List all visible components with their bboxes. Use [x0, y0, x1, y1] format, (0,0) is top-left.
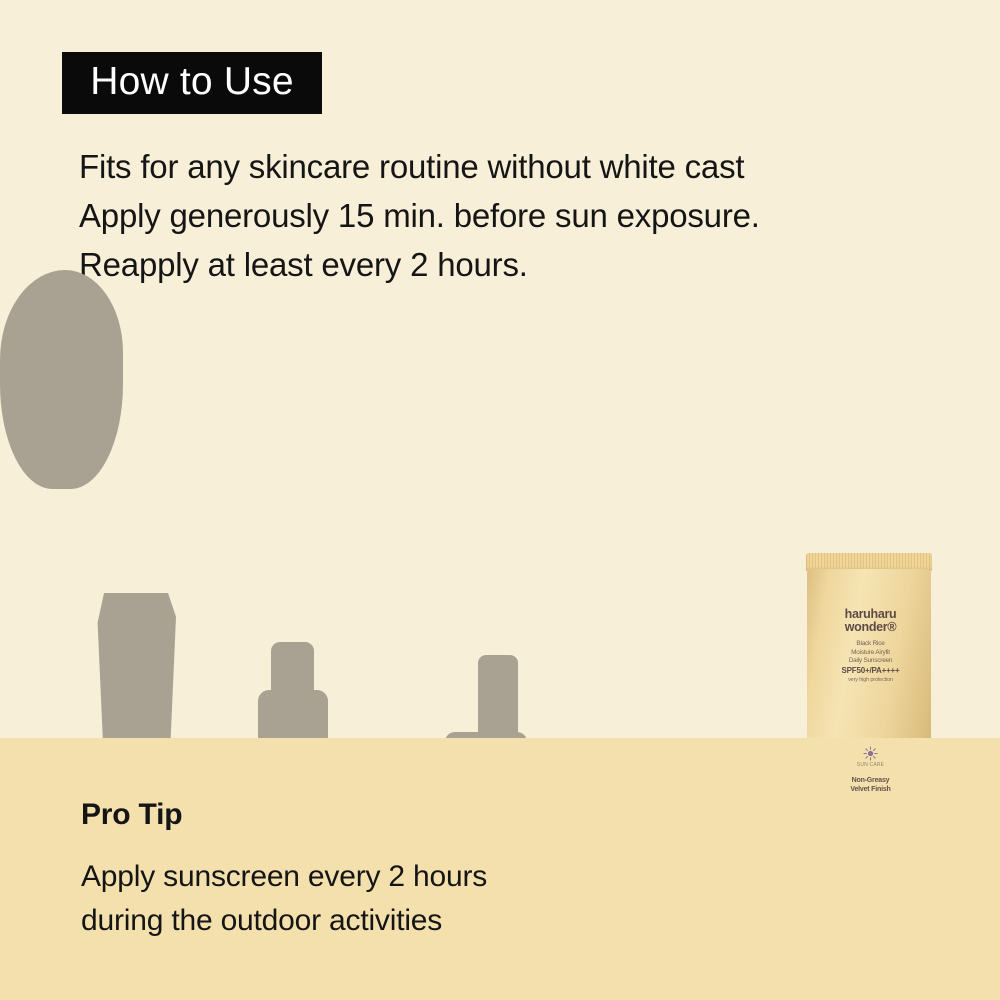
product-protection-level: very high protection: [798, 677, 943, 683]
product-brand-line-2: wonder®: [798, 620, 943, 634]
pro-tip-line-1: Apply sunscreen every 2 hours: [81, 855, 781, 899]
product-emblem-caption: SUN CARE: [798, 762, 943, 768]
product-brand-line-1: haruharu: [798, 607, 943, 621]
intro-line-1: Fits for any skincare routine without wh…: [79, 142, 909, 191]
sun-emblem-icon: [863, 746, 878, 761]
page-title: How to Use: [90, 62, 294, 104]
pro-tip-heading: Pro Tip: [81, 798, 182, 832]
pro-tip-body: Apply sunscreen every 2 hours during the…: [81, 855, 781, 943]
routine-steps-row: haruharu wonder® Black Rice Moisture Air…: [0, 270, 1000, 690]
intro-text-block: Fits for any skincare routine without wh…: [79, 142, 909, 289]
intro-line-2: Apply generously 15 min. before sun expo…: [79, 191, 909, 240]
product-description: Black Rice Moisture Airyfit Daily Sunscr…: [798, 640, 943, 666]
serum-bottle-neck-icon: [478, 655, 518, 735]
pro-tip-line-2: during the outdoor activities: [81, 899, 781, 943]
how-to-use-section: How to Use Fits for any skincare routine…: [0, 0, 1000, 738]
section-title-banner: How to Use: [62, 52, 322, 114]
cream-jar-silhouette-icon: [0, 270, 123, 489]
product-finish-claim: Non-Greasy Velvet Finish: [798, 776, 943, 794]
product-spf-rating: SPF50+/PA++++: [798, 666, 943, 675]
how-to-use-infographic: How to Use Fits for any skincare routine…: [0, 0, 1000, 1000]
